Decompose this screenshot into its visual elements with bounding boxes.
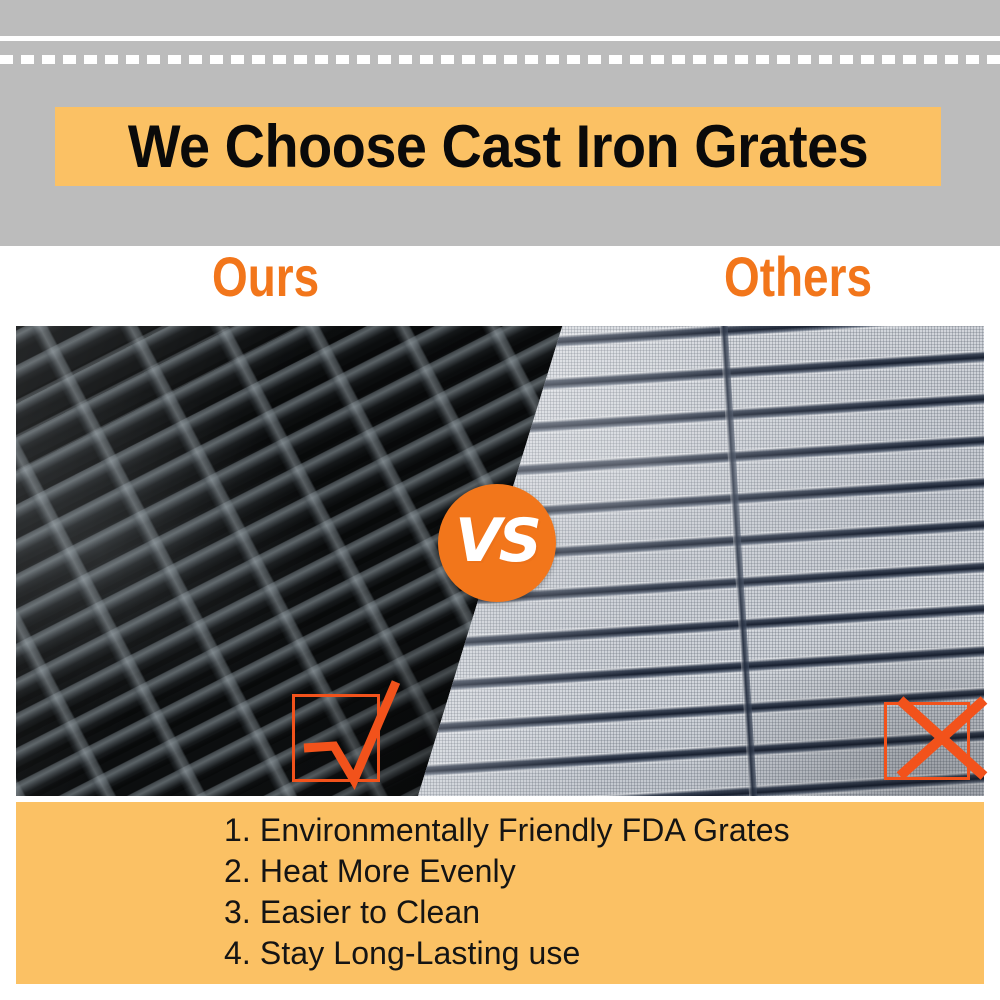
header-dashed-rule <box>0 55 1000 64</box>
column-label-others: Others <box>724 249 872 305</box>
page-title: We Choose Cast Iron Grates <box>128 117 868 177</box>
title-banner: We Choose Cast Iron Grates <box>55 107 941 186</box>
features-list: 1. Environmentally Friendly FDA Grates 2… <box>16 810 984 974</box>
infographic-page: We Choose Cast Iron Grates Ours Others V… <box>0 0 1000 1000</box>
features-panel: 1. Environmentally Friendly FDA Grates 2… <box>16 802 984 984</box>
list-item: 3. Easier to Clean <box>16 892 984 933</box>
header-band: We Choose Cast Iron Grates <box>0 0 1000 246</box>
column-label-ours: Ours <box>212 249 319 305</box>
checkmark-box <box>292 694 380 782</box>
header-solid-rule <box>0 36 1000 41</box>
list-item: 1. Environmentally Friendly FDA Grates <box>16 810 984 851</box>
cross-box <box>884 702 970 780</box>
list-item: 2. Heat More Evenly <box>16 851 984 892</box>
versus-badge: VS <box>438 484 556 602</box>
list-item: 4. Stay Long-Lasting use <box>16 933 984 974</box>
versus-label: VS <box>455 511 539 571</box>
